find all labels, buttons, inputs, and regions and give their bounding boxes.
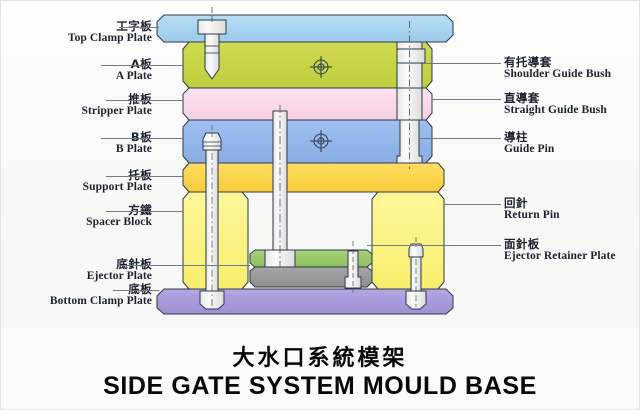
top-clamp-bolt-shank <box>205 34 219 79</box>
label-a-plate: A板 A Plate <box>116 58 152 82</box>
label-guide-pin: 導柱 Guide Pin <box>504 131 554 155</box>
label-en: Spacer Block <box>86 216 152 228</box>
diagram-title: 大水口系統模架 SIDE GATE SYSTEM MOULD BASE <box>1 346 639 401</box>
label-cn: 直導套 <box>504 92 607 104</box>
label-en: Straight Guide Bush <box>504 104 607 116</box>
label-top-clamp-plate: 工字板 Top Clamp Plate <box>68 20 152 44</box>
top-clamp-bolt-head <box>198 20 226 34</box>
label-cn: 回針 <box>504 197 560 209</box>
leader-line-b-plate <box>101 138 183 139</box>
label-cn: 面針板 <box>504 238 616 250</box>
leader-line-return-pin <box>444 204 501 205</box>
leader-line-ejector-plate <box>121 265 250 266</box>
spacer-block-right <box>372 192 444 289</box>
label-en: Stripper Plate <box>82 105 153 117</box>
plate-stripper <box>183 88 432 120</box>
label-ejector-plate: 底針板 Ejector Plate <box>87 258 152 282</box>
label-ejector-retainer-plate: 面針板 Ejector Retainer Plate <box>504 238 616 262</box>
leader-line-stripper-plate <box>106 100 183 101</box>
label-cn: 導柱 <box>504 131 554 143</box>
label-return-pin: 回針 Return Pin <box>504 197 560 221</box>
label-en: Bottom Clamp Plate <box>50 295 152 307</box>
title-english: SIDE GATE SYSTEM MOULD BASE <box>1 372 639 401</box>
leader-line-top-clamp-plate <box>119 27 159 28</box>
leader-line-spacer-block <box>106 211 183 212</box>
label-en: B Plate <box>116 143 152 155</box>
label-en: Return Pin <box>504 209 560 221</box>
plate-support <box>183 163 444 192</box>
leader-line-bottom-clamp-plate <box>113 290 159 291</box>
label-spacer-block: 方鐵 Spacer Block <box>86 204 152 228</box>
label-support-plate: 托板 Support Plate <box>83 169 152 193</box>
label-shoulder-guide-bush: 有托導套 Shoulder Guide Bush <box>504 56 611 80</box>
label-straight-guide-bush: 直導套 Straight Guide Bush <box>504 92 607 116</box>
label-en: A Plate <box>116 70 152 82</box>
plate-a <box>183 42 432 88</box>
label-cn: 有托導套 <box>504 56 611 68</box>
label-en: Top Clamp Plate <box>68 32 152 44</box>
title-chinese: 大水口系統模架 <box>1 346 639 372</box>
leader-line-a-plate <box>101 65 183 66</box>
label-stripper-plate: 推板 Stripper Plate <box>82 93 153 117</box>
leader-line-shoulder-guide-bush <box>425 63 501 64</box>
label-en: Support Plate <box>83 181 152 193</box>
label-en: Shoulder Guide Bush <box>504 68 611 80</box>
label-en: Ejector Retainer Plate <box>504 250 616 262</box>
label-bottom-clamp-plate: 底板 Bottom Clamp Plate <box>50 283 152 307</box>
label-b-plate: B板 B Plate <box>116 131 152 155</box>
label-en: Guide Pin <box>504 143 554 155</box>
leader-line-straight-guide-bush <box>432 99 501 100</box>
leader-line-guide-pin <box>419 138 501 139</box>
mould-base-diagram-page: 工字板 Top Clamp Plate A板 A Plate 推板 Stripp… <box>0 0 640 410</box>
leader-line-support-plate <box>106 176 183 177</box>
label-en: Ejector Plate <box>87 270 152 282</box>
leader-line-ejector-retainer-plate <box>367 245 501 246</box>
